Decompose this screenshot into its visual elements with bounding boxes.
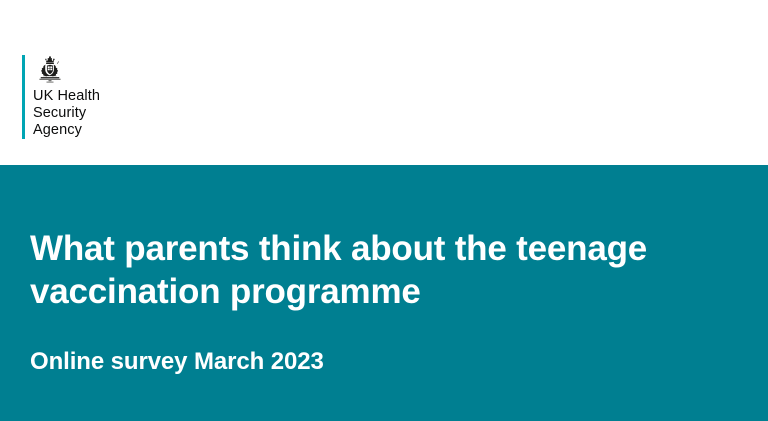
title-band: What parents think about the teenage vac…: [0, 165, 768, 421]
logo-body: UK Health Security Agency: [25, 55, 100, 139]
page-title: What parents think about the teenage vac…: [30, 227, 710, 313]
slide-header: UK Health Security Agency: [0, 0, 768, 165]
logo-line-agency: Agency: [33, 122, 100, 139]
page-title-line-2: vaccination programme: [30, 272, 421, 311]
logo-line-security: Security: [33, 105, 100, 122]
ukhsa-logo: UK Health Security Agency: [22, 55, 100, 139]
page-title-line-1: What parents think about the teenage: [30, 229, 647, 268]
title-slide: UK Health Security Agency What parents t…: [0, 0, 768, 421]
royal-coat-of-arms-icon: [33, 55, 67, 85]
logo-line-uk-health: UK Health: [33, 88, 100, 105]
page-subtitle: Online survey March 2023: [30, 347, 324, 377]
